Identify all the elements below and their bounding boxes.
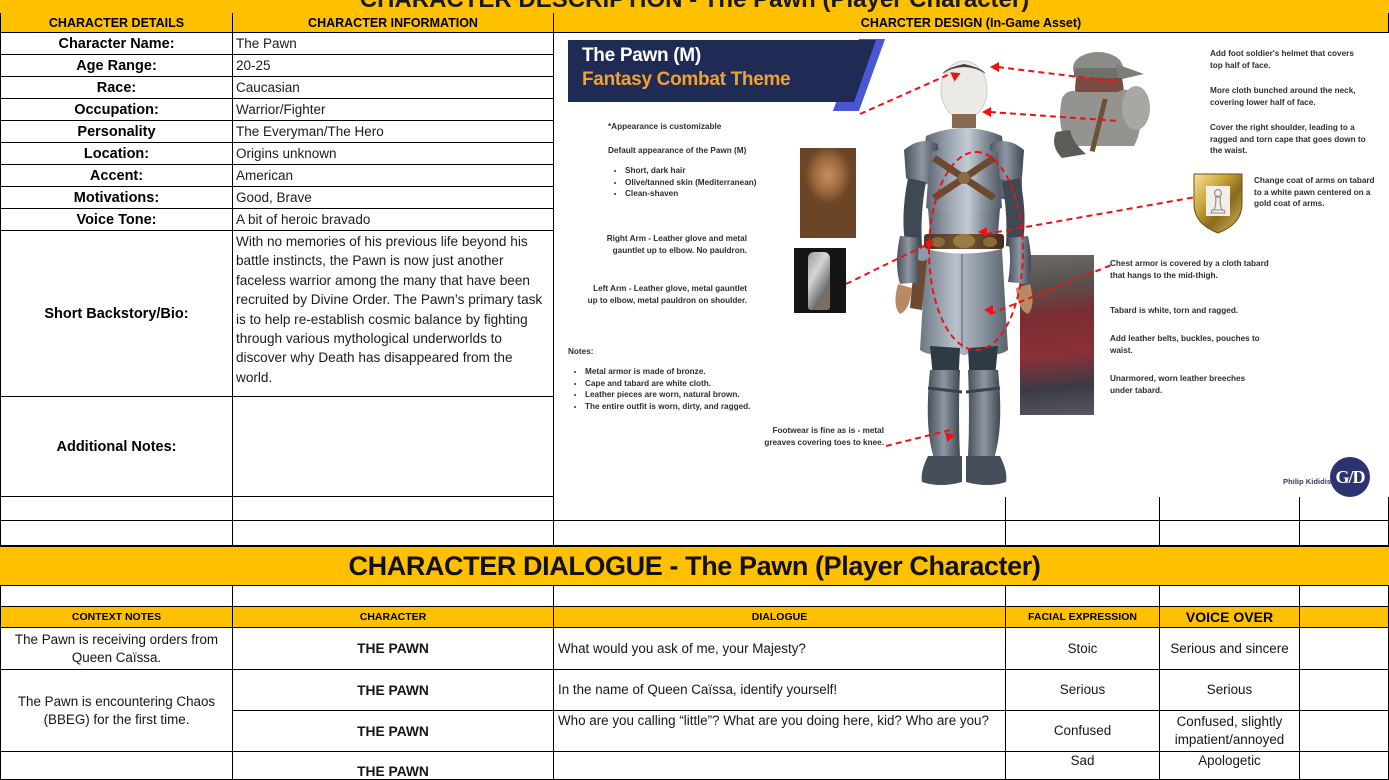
spacer-cell <box>554 497 1006 521</box>
note-default-appearance: Default appearance of the Pawn (M) <box>608 145 808 157</box>
table-row-dialogue[interactable]: Who are you calling “little”? What are y… <box>554 711 1006 752</box>
note-coat-of-arms: Change coat of arms on tabard to a white… <box>1254 175 1384 210</box>
character-design-asset: The Pawn (M) Fantasy Combat Theme *Appea… <box>554 33 1389 497</box>
label-location: Location: <box>0 143 233 165</box>
label-short-backstory: Short Backstory/Bio: <box>0 231 233 397</box>
value-short-backstory[interactable]: With no memories of his previous life be… <box>233 231 554 397</box>
dialogue-header-character: CHARACTER <box>233 607 554 628</box>
note-chest-tabard: Chest armor is covered by a cloth tabard… <box>1110 258 1270 281</box>
table-row-facial[interactable]: Serious <box>1006 670 1160 711</box>
note-appearance-customizable: *Appearance is customizable <box>608 121 798 133</box>
label-additional-notes: Additional Notes: <box>0 397 233 497</box>
table-row-extra[interactable] <box>1300 752 1389 780</box>
list-item: Clean-shaven <box>625 188 768 200</box>
gauntlet-shape <box>808 252 830 310</box>
value-additional-notes[interactable] <box>233 397 554 497</box>
character-description-sheet: CHARACTER DESCRIPTION - The Pawn (Player… <box>0 0 1389 780</box>
value-personality[interactable]: The Everyman/The Hero <box>233 121 554 143</box>
table-row-extra[interactable] <box>1300 711 1389 752</box>
table-row-facial[interactable]: Sad <box>1006 752 1160 780</box>
header-character-information: CHARACTER INFORMATION <box>233 13 554 33</box>
header-character-design: CHARCTER DESIGN (In-Game Asset) <box>554 13 1389 33</box>
dialogue-header-extra <box>1300 607 1389 628</box>
spacer-cell <box>0 497 233 521</box>
spacer-cell <box>1300 586 1389 607</box>
spacer-cell <box>1160 586 1300 607</box>
dialogue-section-title: CHARACTER DIALOGUE - The Pawn (Player Ch… <box>349 551 1041 582</box>
spacer-cell <box>1006 497 1160 521</box>
list-item: Short, dark hair <box>625 165 768 177</box>
dialogue-header-facial-expression: FACIAL EXPRESSION <box>1006 607 1160 628</box>
table-row-context[interactable]: The Pawn is receiving orders from Queen … <box>0 628 233 670</box>
note-leather-belts: Add leather belts, buckles, pouches to w… <box>1110 333 1270 356</box>
table-row-character[interactable]: THE PAWN <box>233 711 554 752</box>
pawn-coat-of-arms-shield-icon <box>1190 170 1246 236</box>
arrowhead-chest-tabard <box>984 305 993 315</box>
table-row-context[interactable] <box>0 752 233 780</box>
table-row-extra[interactable] <box>1300 670 1389 711</box>
value-location[interactable]: Origins unknown <box>233 143 554 165</box>
value-age-range[interactable]: 20-25 <box>233 55 554 77</box>
spacer-cell <box>1006 521 1160 546</box>
appearance-bullet-list: Short, dark hair Olive/tanned skin (Medi… <box>608 165 768 200</box>
design-notes-bullet-list: Metal armor is made of bronze. Cape and … <box>568 366 768 412</box>
slide-subtitle: Fantasy Combat Theme <box>582 69 790 91</box>
table-row-dialogue[interactable]: What would you ask of me, your Majesty? <box>554 628 1006 670</box>
spacer-cell <box>1006 586 1160 607</box>
list-item: Olive/tanned skin (Mediterranean) <box>625 177 768 189</box>
note-tabard-white: Tabard is white, torn and ragged. <box>1110 305 1285 317</box>
value-motivations[interactable]: Good, Brave <box>233 187 554 209</box>
table-row-context[interactable]: The Pawn is encountering Chaos (BBEG) fo… <box>0 670 233 752</box>
label-age-range: Age Range: <box>0 55 233 77</box>
table-row-facial[interactable]: Confused <box>1006 711 1160 752</box>
note-leather-breeches: Unarmored, worn leather breeches under t… <box>1110 373 1270 396</box>
author-credit: Philip Kididis <box>1283 477 1331 486</box>
table-row-character[interactable]: THE PAWN <box>233 670 554 711</box>
arrowhead-neck-cloth <box>982 107 991 117</box>
label-character-name: Character Name: <box>0 33 233 55</box>
spacer-cell <box>554 521 1006 546</box>
spacer-cell <box>1300 497 1389 521</box>
table-row-character[interactable]: THE PAWN <box>233 752 554 780</box>
page-title: CHARACTER DESCRIPTION - The Pawn (Player… <box>0 0 1389 13</box>
arrowhead-helmet <box>990 62 999 72</box>
right-arm-gauntlet-photo <box>794 248 846 313</box>
list-item: The entire outfit is worn, dirty, and ra… <box>585 401 768 413</box>
note-neck-cloth: More cloth bunched around the neck, cove… <box>1210 85 1368 108</box>
table-row-voice[interactable]: Serious and sincere <box>1160 628 1300 670</box>
studio-logo: G/D <box>1330 457 1370 497</box>
list-item: Metal armor is made of bronze. <box>585 366 768 378</box>
spacer-cell <box>1160 497 1300 521</box>
table-row-dialogue[interactable] <box>554 752 1006 780</box>
spacer-cell <box>1300 521 1389 546</box>
spacer-cell <box>1160 521 1300 546</box>
spacer-cell <box>233 521 554 546</box>
spacer-cell <box>0 521 233 546</box>
value-occupation[interactable]: Warrior/Fighter <box>233 99 554 121</box>
dialogue-header-context-notes: CONTEXT NOTES <box>0 607 233 628</box>
note-left-arm: Left Arm - Leather glove, metal gauntlet… <box>582 283 747 306</box>
label-accent: Accent: <box>0 165 233 187</box>
table-row-character[interactable]: THE PAWN <box>233 628 554 670</box>
note-helmet: Add foot soldier's helmet that covers to… <box>1210 48 1368 71</box>
header-character-details: CHARACTER DETAILS <box>0 13 233 33</box>
chest-highlight-ellipse <box>928 151 1024 351</box>
value-accent[interactable]: American <box>233 165 554 187</box>
note-shoulder-cape: Cover the right shoulder, leading to a r… <box>1210 122 1368 157</box>
spacer-cell <box>233 586 554 607</box>
note-right-arm: Right Arm - Leather glove and metal gaun… <box>582 233 747 256</box>
table-row-voice[interactable]: Confused, slightly impatient/annoyed <box>1160 711 1300 752</box>
spacer-cell <box>0 586 233 607</box>
value-race[interactable]: Caucasian <box>233 77 554 99</box>
table-row-voice[interactable]: Apologetic <box>1160 752 1300 780</box>
table-row-facial[interactable]: Stoic <box>1006 628 1160 670</box>
dialogue-header-dialogue: DIALOGUE <box>554 607 1006 628</box>
table-row-dialogue[interactable]: In the name of Queen Caïssa, identify yo… <box>554 670 1006 711</box>
face-reference-photo <box>800 148 856 238</box>
list-item: Leather pieces are worn, natural brown. <box>585 389 768 401</box>
label-race: Race: <box>0 77 233 99</box>
spacer-cell <box>554 586 1006 607</box>
notes-heading: Notes: <box>568 346 648 358</box>
arrowhead-coat-of-arms <box>978 227 987 237</box>
value-voice-tone[interactable]: A bit of heroic bravado <box>233 209 554 231</box>
label-motivations: Motivations: <box>0 187 233 209</box>
table-row-extra[interactable] <box>1300 628 1389 670</box>
slide-title-banner: The Pawn (M) Fantasy Combat Theme <box>568 40 854 102</box>
slide-title: The Pawn (M) <box>582 45 701 67</box>
value-character-name[interactable]: The Pawn <box>233 33 554 55</box>
label-personality: Personality <box>0 121 233 143</box>
list-item: Cape and tabard are white cloth. <box>585 378 768 390</box>
spacer-cell <box>233 497 554 521</box>
label-voice-tone: Voice Tone: <box>0 209 233 231</box>
dialogue-header-voice-over: VOICE OVER <box>1160 607 1300 628</box>
label-occupation: Occupation: <box>0 99 233 121</box>
page-title-banner: CHARACTER DESCRIPTION - The Pawn (Player… <box>0 0 1389 13</box>
dialogue-section-banner: CHARACTER DIALOGUE - The Pawn (Player Ch… <box>0 546 1389 586</box>
table-row-voice[interactable]: Serious <box>1160 670 1300 711</box>
